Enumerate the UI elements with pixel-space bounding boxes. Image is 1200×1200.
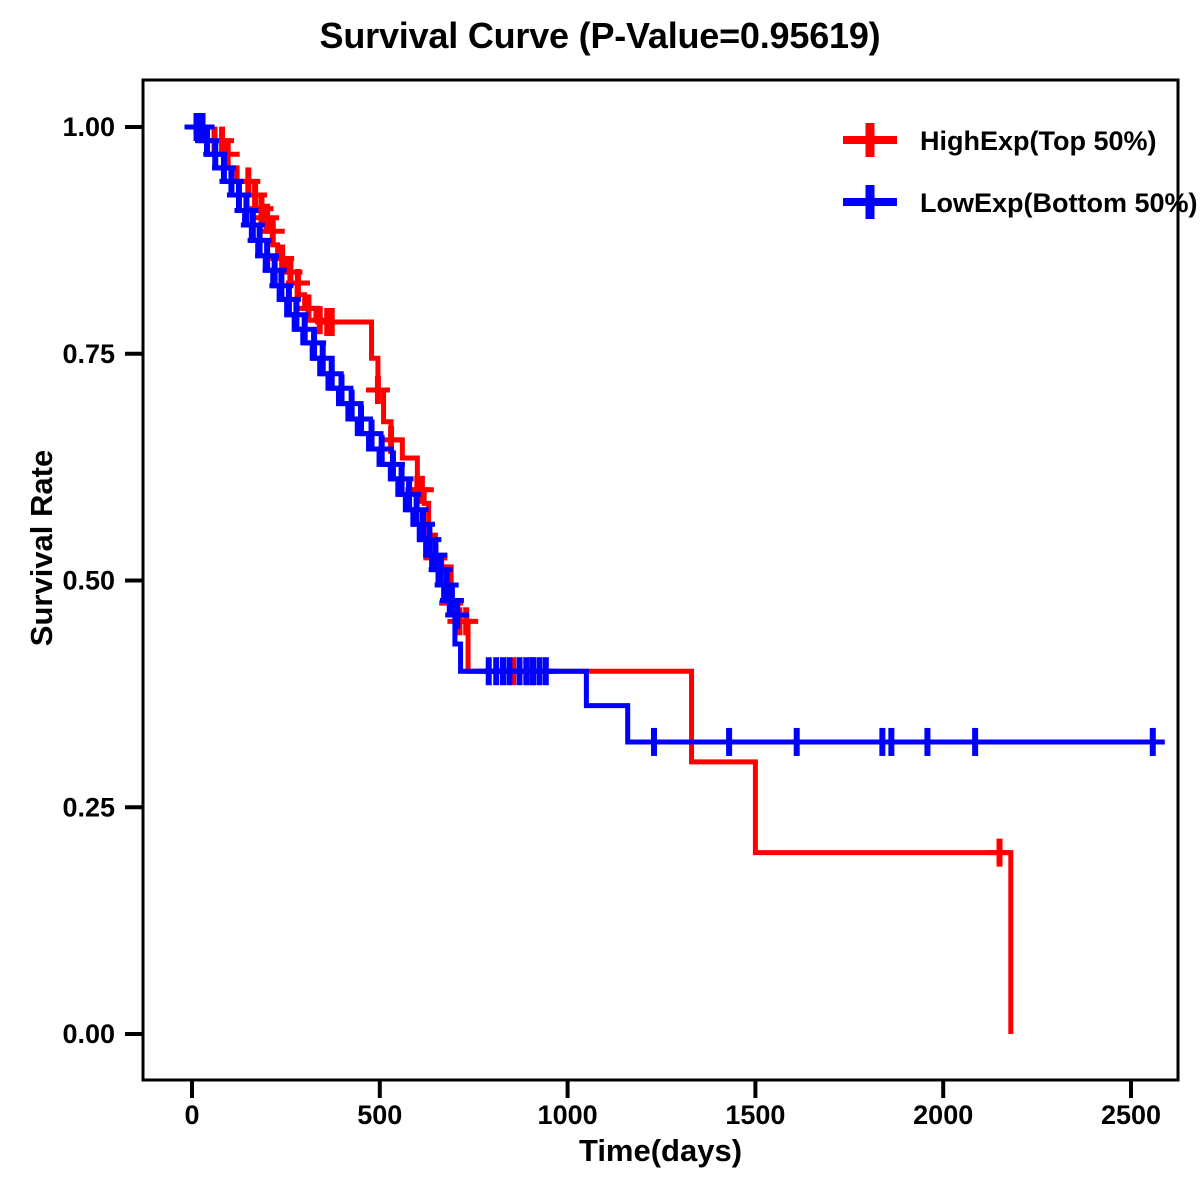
survival-curve-figure: Survival Curve (P-Value=0.95619) Surviva… xyxy=(0,0,1200,1200)
y-tick-label: 0.00 xyxy=(62,1019,115,1049)
censor-markers xyxy=(189,113,1011,867)
legend-item-high-exp[interactable]: HighExp(Top 50%) xyxy=(843,123,1157,157)
x-axis-ticks: 05001000150020002500 xyxy=(184,1080,1161,1130)
y-tick-label: 0.75 xyxy=(62,339,115,369)
step-line xyxy=(192,127,1011,1034)
legend-label: LowExp(Bottom 50%) xyxy=(920,188,1198,218)
y-axis-ticks: 0.000.250.500.751.00 xyxy=(62,112,143,1049)
plot-canvas: 05001000150020002500 0.000.250.500.751.0… xyxy=(0,0,1200,1200)
y-tick-label: 0.25 xyxy=(62,792,115,822)
series-layer xyxy=(185,113,1165,1034)
legend-item-low-exp[interactable]: LowExp(Bottom 50%) xyxy=(843,185,1198,219)
x-tick-label: 500 xyxy=(357,1100,402,1130)
x-tick-label: 2500 xyxy=(1101,1100,1161,1130)
survival-series-high xyxy=(189,113,1011,1034)
x-tick-label: 2000 xyxy=(913,1100,973,1130)
step-line xyxy=(192,127,1155,742)
x-tick-label: 1500 xyxy=(725,1100,785,1130)
legend-label: HighExp(Top 50%) xyxy=(920,126,1157,156)
y-tick-label: 0.50 xyxy=(62,566,115,596)
plot-border xyxy=(143,80,1178,1080)
x-tick-label: 0 xyxy=(184,1100,199,1130)
chart-legend[interactable]: HighExp(Top 50%)LowExp(Bottom 50%) xyxy=(843,123,1198,219)
y-tick-label: 1.00 xyxy=(62,112,115,142)
x-tick-label: 1000 xyxy=(538,1100,598,1130)
